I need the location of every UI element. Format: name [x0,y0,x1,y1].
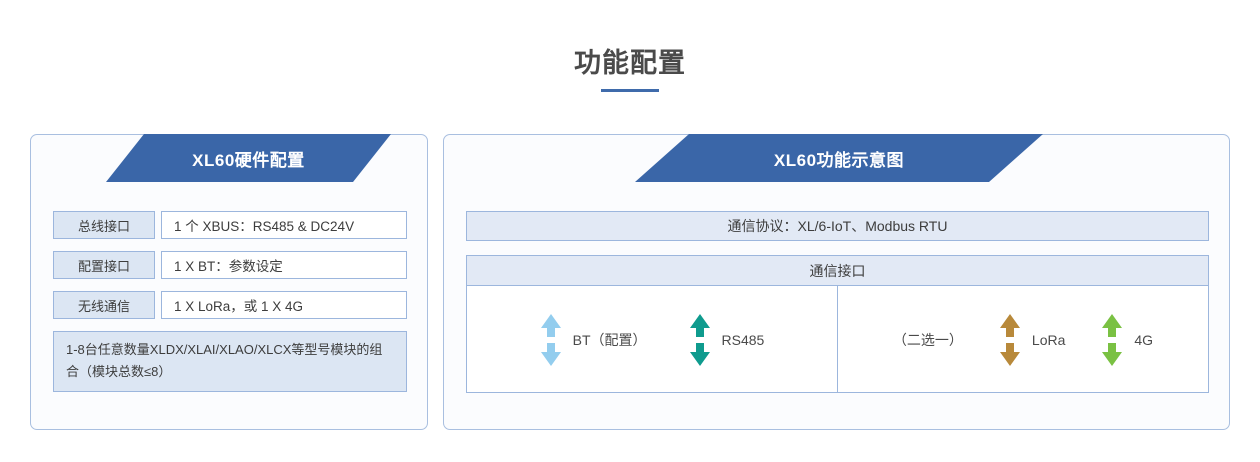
function-diagram-banner: XL60功能示意图 [635,134,1043,182]
interface-label-rs485: RS485 [722,332,765,348]
page-title: 功能配置 [0,46,1260,80]
interface-item-rs485: RS485 [689,314,765,366]
wireless-interface-group: （二选一） LoRa 4G [838,286,1208,393]
module-combination-note: 1-8台任意数量XLDX/XLAI/XLAO/XLCX等型号模块的组合（模块总数… [53,331,407,392]
table-row: 总线接口 1 个 XBUS：RS485 & DC24V [53,211,407,239]
communication-interface-body: BT（配置） RS485 （二选一） Lo [467,286,1208,393]
table-row: 配置接口 1 X BT：参数设定 [53,251,407,279]
hardware-config-banner: XL60硬件配置 [106,134,391,182]
page-title-block: 功能配置 [0,46,1260,92]
protocol-bar: 通信协议：XL/6-IoT、Modbus RTU [466,211,1209,241]
double-arrow-icon [999,314,1021,366]
interface-label-lora: LoRa [1032,332,1065,348]
spec-label-config-interface: 配置接口 [53,251,155,279]
function-diagram-banner-label: XL60功能示意图 [774,146,904,171]
spec-value-config-interface: 1 X BT：参数设定 [161,251,407,279]
spec-label-wireless: 无线通信 [53,291,155,319]
function-diagram-panel: XL60功能示意图 通信协议：XL/6-IoT、Modbus RTU 通信接口 … [443,134,1230,430]
table-row: 无线通信 1 X LoRa，或 1 X 4G [53,291,407,319]
hardware-spec-list: 总线接口 1 个 XBUS：RS485 & DC24V 配置接口 1 X BT：… [53,211,407,392]
spec-label-bus-interface: 总线接口 [53,211,155,239]
title-underline [601,89,659,92]
communication-interface-header: 通信接口 [467,256,1208,286]
interface-label-bt: BT（配置） [573,330,647,350]
interface-label-4g: 4G [1134,332,1153,348]
wired-interface-group: BT（配置） RS485 [467,286,838,393]
double-arrow-icon [1101,314,1123,366]
interface-item-4g: 4G [1101,314,1153,366]
hardware-config-banner-label: XL60硬件配置 [192,146,305,171]
interface-item-bt: BT（配置） [540,314,647,366]
spec-value-wireless: 1 X LoRa，或 1 X 4G [161,291,407,319]
communication-interface-box: 通信接口 BT（配置） RS485 [466,255,1209,393]
choose-one-note: （二选一） [893,330,963,350]
spec-value-bus-interface: 1 个 XBUS：RS485 & DC24V [161,211,407,239]
hardware-config-panel: XL60硬件配置 总线接口 1 个 XBUS：RS485 & DC24V 配置接… [30,134,428,430]
interface-item-lora: LoRa [999,314,1065,366]
double-arrow-icon [689,314,711,366]
double-arrow-icon [540,314,562,366]
